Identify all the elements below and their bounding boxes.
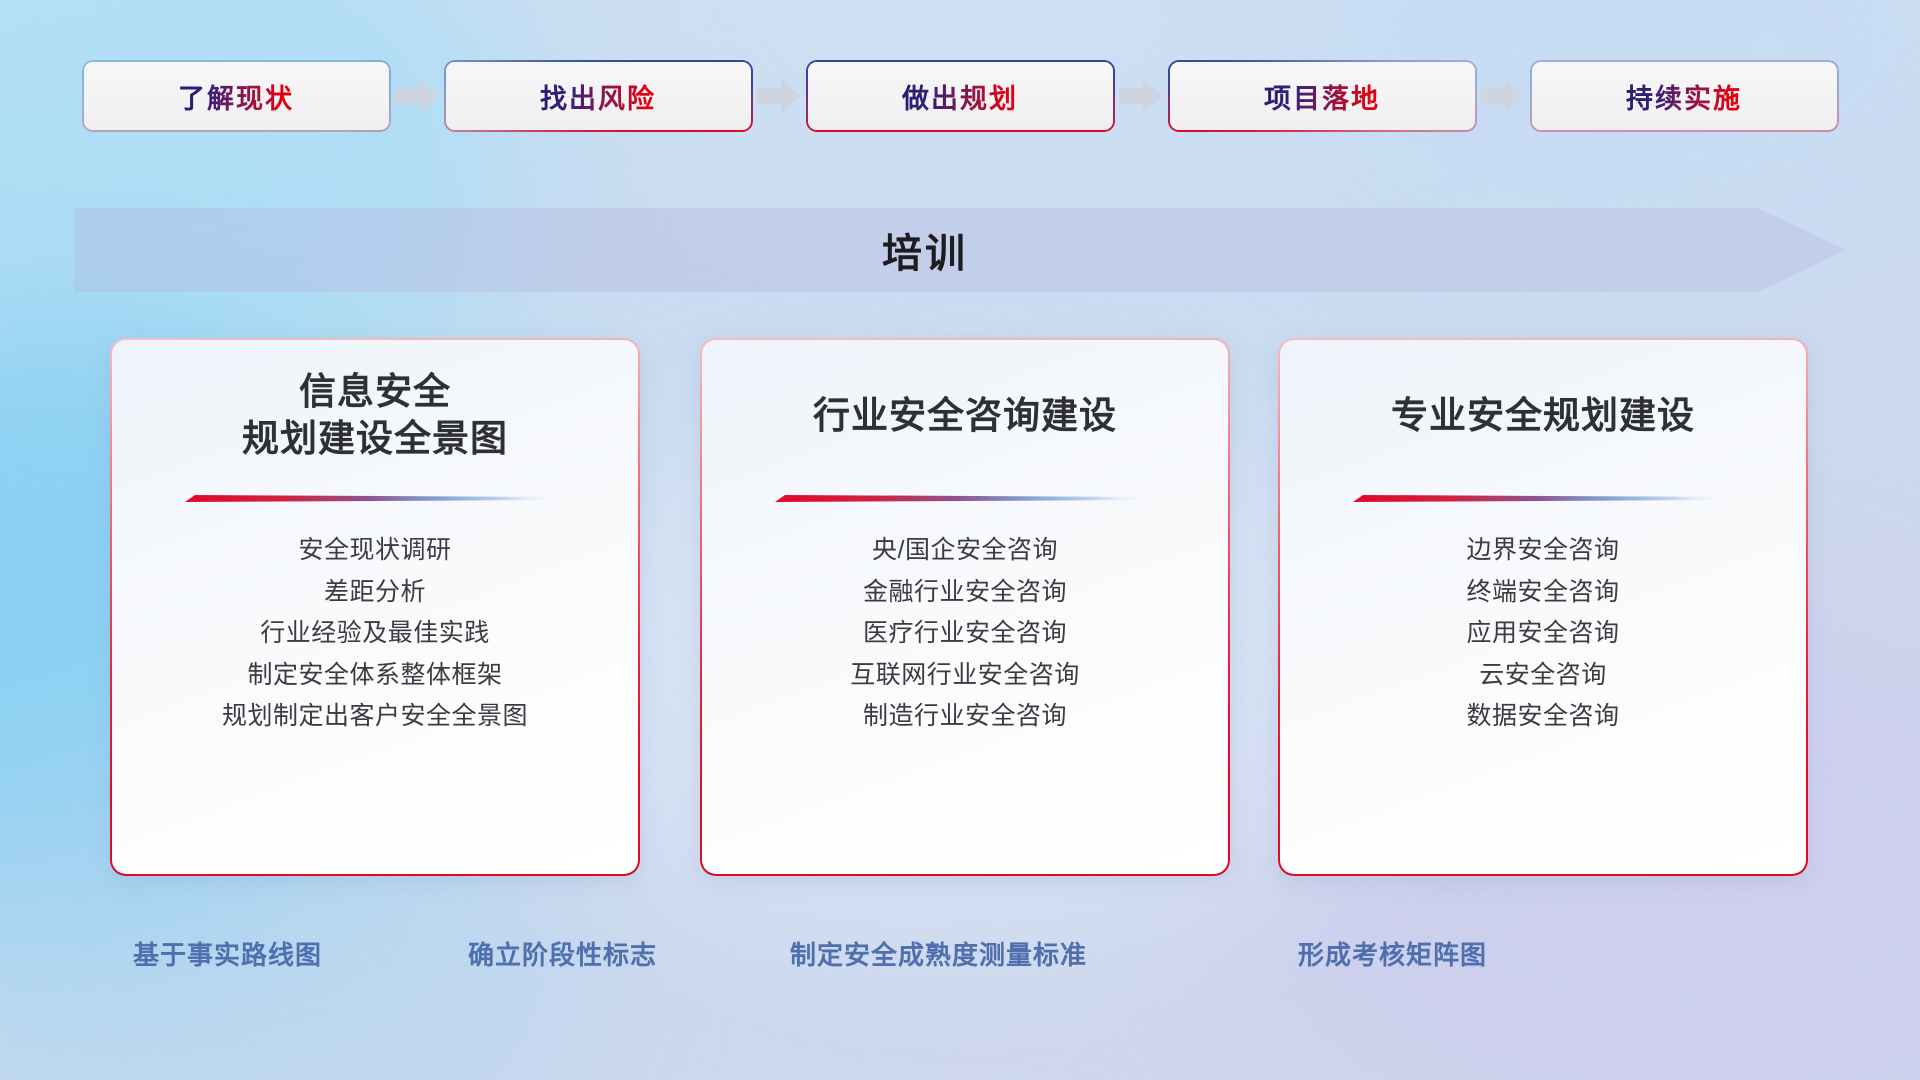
step-box-1-label: 了解现状 — [178, 77, 294, 116]
chevron-right-icon-3 — [1113, 62, 1170, 130]
capability-card-1-body: 信息安全 规划建设全景图 — [112, 340, 638, 874]
process-step-flow: 了解现状 找出风险 做出规划 项目落地 持续实施 — [0, 62, 1920, 130]
capability-card-1-title: 信息安全 规划建设全景图 — [112, 368, 638, 463]
step-box-2-label: 找出风险 — [540, 77, 656, 116]
chevron-right-icon-2 — [751, 62, 808, 130]
list-item: 规划制定出客户安全全景图 — [222, 696, 528, 738]
list-item: 终端安全咨询 — [1466, 572, 1619, 614]
capability-card-3-divider — [1280, 492, 1806, 506]
list-item: 边界安全咨询 — [1466, 530, 1619, 572]
capability-card-1[interactable]: 信息安全 规划建设全景图 — [110, 338, 640, 876]
outcome-label-1: 基于事实路线图 — [133, 935, 322, 972]
list-item: 金融行业安全咨询 — [863, 572, 1067, 614]
capability-card-2-list: 央/国企安全咨询 金融行业安全咨询 医疗行业安全咨询 互联网行业安全咨询 制造行… — [702, 530, 1228, 738]
capability-card-3-list: 边界安全咨询 终端安全咨询 应用安全咨询 云安全咨询 数据安全咨询 — [1280, 530, 1806, 738]
outcome-label-4: 形成考核矩阵图 — [1298, 935, 1487, 972]
list-item: 安全现状调研 — [298, 530, 451, 572]
capability-card-1-list: 安全现状调研 差距分析 行业经验及最佳实践 制定安全体系整体框架 规划制定出客户… — [112, 530, 638, 738]
step-box-5-label: 持续实施 — [1626, 77, 1742, 116]
list-item: 云安全咨询 — [1479, 655, 1607, 697]
list-item: 制定安全体系整体框架 — [247, 655, 502, 697]
list-item: 差距分析 — [324, 572, 426, 614]
list-item: 数据安全咨询 — [1466, 696, 1619, 738]
capability-card-group: 信息安全 规划建设全景图 — [0, 338, 1920, 878]
step-box-3-label: 做出规划 — [902, 77, 1018, 116]
list-item: 应用安全咨询 — [1466, 613, 1619, 655]
capability-card-1-divider — [112, 492, 638, 506]
training-banner-title: 培训 — [74, 208, 1776, 292]
step-box-3[interactable]: 做出规划 — [808, 62, 1113, 130]
step-box-4[interactable]: 项目落地 — [1170, 62, 1475, 130]
capability-card-3[interactable]: 专业安全规划建设 — [1278, 338, 1808, 876]
list-item: 央/国企安全咨询 — [872, 530, 1058, 572]
outcome-label-group: 基于事实路线图 确立阶段性标志 制定安全成熟度测量标准 形成考核矩阵图 — [0, 935, 1920, 985]
capability-card-3-title: 专业安全规划建设 — [1280, 392, 1806, 439]
capability-card-2-divider — [702, 492, 1228, 506]
outcome-label-2: 确立阶段性标志 — [468, 935, 657, 972]
step-box-4-label: 项目落地 — [1264, 77, 1380, 116]
list-item: 医疗行业安全咨询 — [863, 613, 1067, 655]
capability-card-2-title: 行业安全咨询建设 — [702, 392, 1228, 439]
outcome-label-3: 制定安全成熟度测量标准 — [790, 935, 1087, 972]
chevron-right-icon-1 — [389, 62, 446, 130]
list-item: 制造行业安全咨询 — [863, 696, 1067, 738]
list-item: 行业经验及最佳实践 — [260, 613, 490, 655]
capability-card-2[interactable]: 行业安全咨询建设 — [700, 338, 1230, 876]
step-box-1[interactable]: 了解现状 — [84, 62, 389, 130]
capability-card-3-body: 专业安全规划建设 — [1280, 340, 1806, 874]
list-item: 互联网行业安全咨询 — [850, 655, 1080, 697]
training-banner: 培训 — [74, 208, 1846, 292]
chevron-right-icon-4 — [1475, 62, 1532, 130]
capability-card-2-body: 行业安全咨询建设 — [702, 340, 1228, 874]
step-box-5[interactable]: 持续实施 — [1532, 62, 1837, 130]
step-box-2[interactable]: 找出风险 — [446, 62, 751, 130]
